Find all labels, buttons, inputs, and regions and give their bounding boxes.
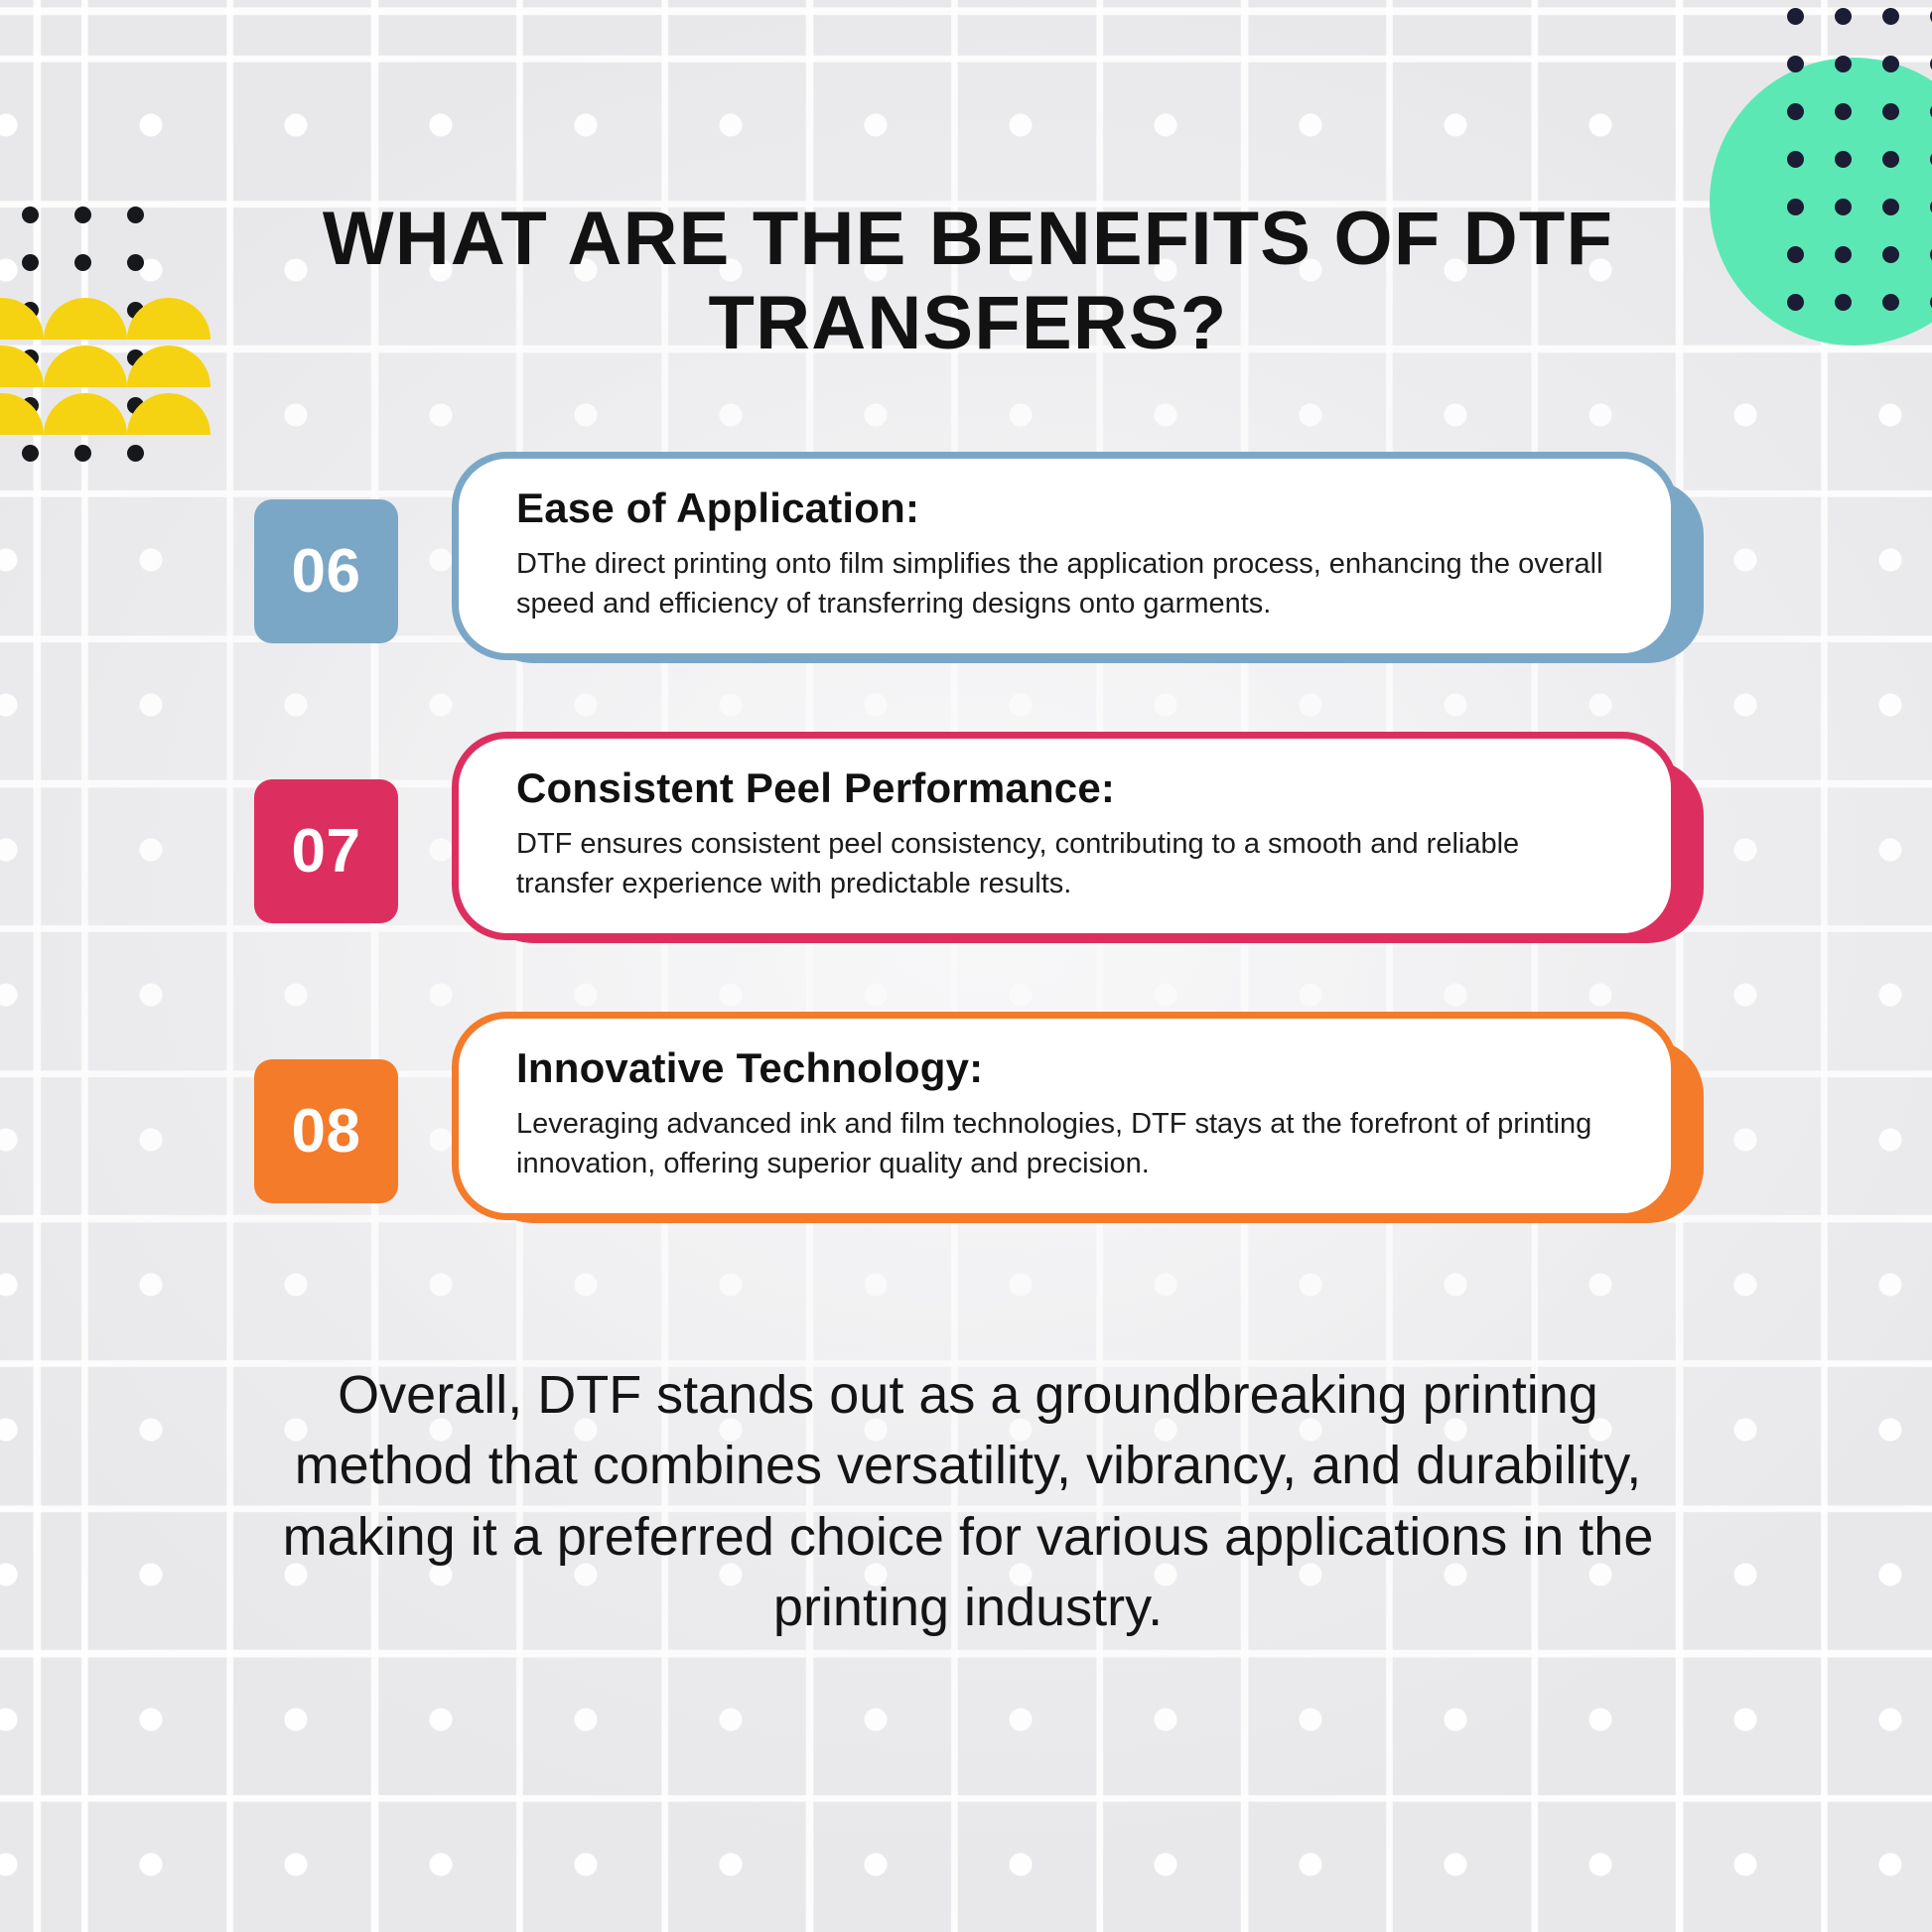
- decorative-dot: [1835, 103, 1852, 120]
- decorative-dot: [1882, 8, 1899, 25]
- benefit-card-row: 08Innovative Technology:Leveraging advan…: [0, 1012, 1932, 1272]
- yellow-semicircle: [0, 345, 44, 387]
- card-heading: Ease of Application:: [516, 484, 1613, 532]
- decorative-dot: [22, 254, 39, 271]
- decorative-dot: [1787, 199, 1804, 215]
- decorative-dot: [1787, 294, 1804, 311]
- decorative-dot: [1835, 8, 1852, 25]
- decorative-dot: [74, 207, 91, 223]
- decorative-dot: [1835, 151, 1852, 168]
- decorative-dot: [1787, 56, 1804, 72]
- card-description: DTF ensures consistent peel consistency,…: [516, 824, 1613, 903]
- decorative-dot: [1882, 294, 1899, 311]
- yellow-semicircle: [0, 298, 44, 340]
- card-body: Innovative Technology:Leveraging advance…: [452, 1012, 1678, 1220]
- decorative-dot: [1835, 246, 1852, 263]
- benefit-card: Consistent Peel Performance:DTF ensures …: [452, 732, 1678, 940]
- decorative-dot: [1882, 246, 1899, 263]
- card-body: Ease of Application:DThe direct printing…: [452, 452, 1678, 660]
- card-heading: Innovative Technology:: [516, 1044, 1613, 1092]
- decorative-dot: [1787, 103, 1804, 120]
- card-heading: Consistent Peel Performance:: [516, 764, 1613, 812]
- yellow-semicircle: [44, 298, 127, 340]
- yellow-semicircle: [44, 345, 127, 387]
- yellow-semicircle-decoration: [0, 298, 174, 432]
- decorative-dot: [74, 254, 91, 271]
- yellow-semicircle: [0, 393, 44, 435]
- decorative-dot: [127, 207, 144, 223]
- card-number-badge: 06: [254, 499, 398, 643]
- benefit-card-row: 07Consistent Peel Performance:DTF ensure…: [0, 732, 1932, 992]
- summary-paragraph: Overall, DTF stands out as a groundbreak…: [243, 1360, 1693, 1643]
- yellow-semicircle: [44, 393, 127, 435]
- page-title: WHAT ARE THE BENEFITS OF DTF TRANSFERS?: [238, 197, 1698, 365]
- decorative-dot: [127, 254, 144, 271]
- decorative-dot: [1882, 56, 1899, 72]
- decorative-dot: [1835, 294, 1852, 311]
- decorative-dot: [1882, 151, 1899, 168]
- decorative-dot: [1835, 199, 1852, 215]
- decorative-dot: [1787, 8, 1804, 25]
- top-right-dot-grid-decoration: [1787, 8, 1932, 342]
- decorative-dot: [1882, 103, 1899, 120]
- decorative-dot: [1835, 56, 1852, 72]
- card-description: DThe direct printing onto film simplifie…: [516, 544, 1613, 623]
- decorative-dot: [22, 207, 39, 223]
- decorative-dot: [1882, 199, 1899, 215]
- card-number-badge: 07: [254, 779, 398, 923]
- card-description: Leveraging advanced ink and film technol…: [516, 1104, 1613, 1183]
- infographic-canvas: WHAT ARE THE BENEFITS OF DTF TRANSFERS? …: [0, 0, 1932, 1932]
- benefit-card-row: 06Ease of Application:DThe direct printi…: [0, 452, 1932, 712]
- benefit-card: Ease of Application:DThe direct printing…: [452, 452, 1678, 660]
- card-body: Consistent Peel Performance:DTF ensures …: [452, 732, 1678, 940]
- benefits-card-list: 06Ease of Application:DThe direct printi…: [0, 452, 1932, 1292]
- card-number-badge: 08: [254, 1059, 398, 1203]
- benefit-card: Innovative Technology:Leveraging advance…: [452, 1012, 1678, 1220]
- decorative-dot: [1787, 151, 1804, 168]
- decorative-dot: [1787, 246, 1804, 263]
